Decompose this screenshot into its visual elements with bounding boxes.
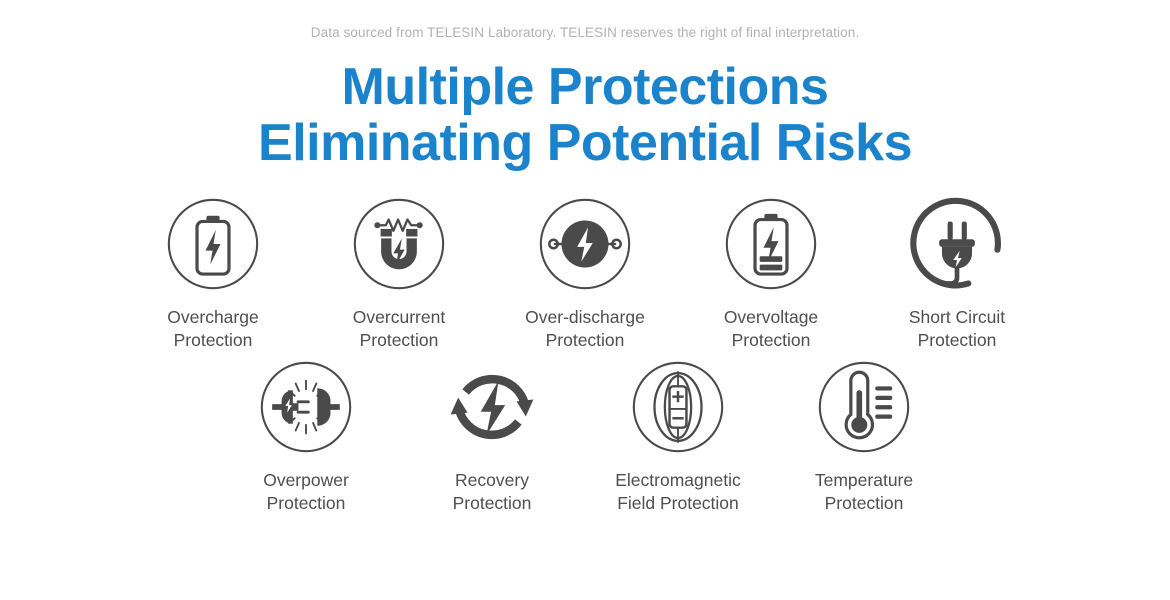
feature-label: Over-discharge Protection (525, 306, 645, 353)
plug-cord-icon (909, 196, 1005, 292)
discharge-wave-bolt-icon (537, 196, 633, 292)
protections-infographic: Data sourced from TELESIN Laboratory. TE… (0, 0, 1170, 600)
page-title-line-2: Eliminating Potential Risks (0, 116, 1170, 172)
feature-label: Overpower Protection (263, 469, 349, 516)
feature-short-circuit: Short Circuit Protection (864, 196, 1050, 353)
feature-overvoltage: Overvoltage Protection (678, 196, 864, 353)
feature-overpower: Overpower Protection (213, 359, 399, 516)
feature-electromagnetic-field: Electromagnetic Field Protection (585, 359, 771, 516)
feature-label: Electromagnetic Field Protection (615, 469, 740, 516)
disclaimer-text: Data sourced from TELESIN Laboratory. TE… (0, 25, 1170, 40)
feature-label: Recovery Protection (453, 469, 532, 516)
page-title-line-1: Multiple Protections (0, 60, 1170, 116)
feature-label: Overcurrent Protection (353, 306, 445, 353)
recycle-bolt-icon (444, 359, 540, 455)
thermometer-icon (816, 359, 912, 455)
plug-disconnect-spark-icon (258, 359, 354, 455)
battery-bolt-bars-icon (723, 196, 819, 292)
page-title: Multiple Protections Eliminating Potenti… (0, 60, 1170, 171)
features-grid: Overcharge Protection (0, 196, 1170, 515)
feature-overcharge: Overcharge Protection (120, 196, 306, 353)
feature-label: Short Circuit Protection (909, 306, 1005, 353)
feature-over-discharge: Over-discharge Protection (492, 196, 678, 353)
feature-label: Temperature Protection (815, 469, 913, 516)
feature-recovery: Recovery Protection (399, 359, 585, 516)
feature-temperature: Temperature Protection (771, 359, 957, 516)
features-row-2: Overpower Protection Recov (0, 359, 1170, 516)
battery-bolt-icon (165, 196, 261, 292)
feature-label: Overvoltage Protection (724, 306, 818, 353)
features-row-1: Overcharge Protection (0, 196, 1170, 353)
feature-overcurrent: Overcurrent Protection (306, 196, 492, 353)
battery-field-lines-icon (630, 359, 726, 455)
feature-label: Overcharge Protection (167, 306, 258, 353)
magnet-bolt-icon (351, 196, 447, 292)
